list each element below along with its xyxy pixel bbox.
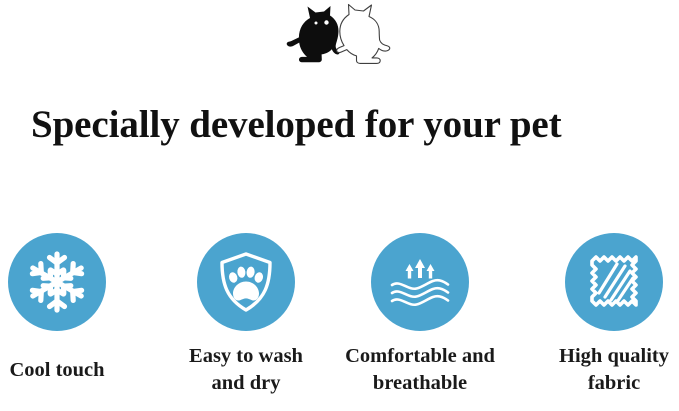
feature-icon-badge (8, 233, 106, 331)
caption-line: Easy to wash (161, 343, 331, 370)
feature-icon-badge (371, 233, 469, 331)
feature-list: Cool touch Easy to wash and (0, 225, 679, 411)
white-cat-outline (337, 5, 390, 64)
feature-icon-badge (197, 233, 295, 331)
two-cats-logo (283, 3, 395, 69)
caption-line: breathable (335, 370, 505, 397)
feature-caption: Comfortable and breathable (335, 343, 505, 397)
caption-line: High quality (529, 343, 679, 370)
feature-caption: Easy to wash and dry (161, 343, 331, 397)
feature-item-cool-touch: Cool touch (0, 225, 142, 411)
feature-icon-badge (565, 233, 663, 331)
feature-caption: High quality fabric (529, 343, 679, 397)
caption-line: fabric (529, 370, 679, 397)
caption-line: Cool touch (0, 357, 142, 384)
shield-paw-icon (217, 251, 275, 313)
caption-line: Comfortable and (335, 343, 505, 370)
black-cat-silhouette (287, 6, 340, 62)
feature-item-easy-to-wash: Easy to wash and dry (161, 225, 331, 411)
feature-caption: Cool touch (0, 357, 142, 384)
caption-line: and dry (161, 370, 331, 397)
fabric-swatch-icon (583, 251, 645, 313)
snowflake-icon (25, 250, 89, 314)
airflow-waves-icon (388, 257, 452, 307)
feature-item-breathable: Comfortable and breathable (335, 225, 505, 411)
page-title: Specially developed for your pet (31, 103, 651, 147)
feature-item-high-quality-fabric: High quality fabric (529, 225, 679, 411)
